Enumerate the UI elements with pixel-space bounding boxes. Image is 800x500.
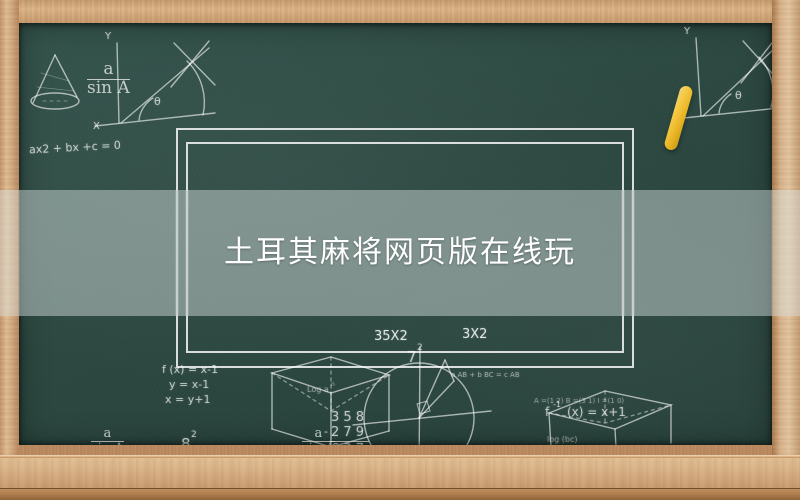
fraction-bar	[302, 441, 335, 442]
cube-hidden-back	[272, 373, 389, 411]
function-line-1: f (x) = x-1	[162, 363, 218, 376]
axis-1-cross-1	[174, 43, 215, 85]
inverse-function-exponent: -1	[553, 400, 561, 409]
subtraction-row-1: 3 5 8	[331, 410, 364, 425]
axis-1-vertical	[117, 43, 119, 123]
angle-1-arc	[139, 98, 153, 120]
angle-2-arc-outer	[759, 57, 772, 107]
label-3x2: 3X2	[462, 327, 487, 342]
inverse-function-base: f	[545, 405, 549, 419]
matrix-equations-text: A =(1 2) B =(3 1) I =(1 0)	[534, 397, 624, 405]
unit-circle	[364, 363, 474, 445]
fraction-bar	[87, 79, 130, 80]
eight-squared-base: 8	[181, 435, 191, 445]
cone-base-ellipse	[31, 93, 79, 109]
axis-1-ray	[121, 48, 209, 123]
axis-1-cross-2	[171, 41, 209, 87]
subtraction-row-2: 2 7 9	[331, 425, 364, 440]
angle-1-arc-outer	[187, 61, 204, 115]
unit-circle-radius-2	[419, 381, 454, 418]
axis-label-y-2: Y	[684, 26, 690, 37]
axis-2-cross-1	[743, 41, 772, 81]
title-overlay-band: 土耳其麻将网页版在线玩	[0, 190, 800, 316]
cone-left-edge	[33, 55, 55, 103]
angle-2-arc	[719, 94, 731, 113]
axis-2-ray	[703, 48, 772, 116]
fraction-denominator: sin A	[91, 442, 124, 445]
function-line-3: x = y+1	[165, 393, 210, 406]
fraction-bar	[91, 441, 124, 442]
fraction-numerator: a	[87, 61, 130, 79]
axis-2-vertical	[696, 38, 701, 116]
axis-2-cross-2	[741, 39, 772, 83]
fraction-numerator: a	[302, 427, 335, 441]
cube2-top	[549, 391, 671, 429]
function-line-2: y = x-1	[169, 378, 209, 391]
fraction-a-over-sina-bottom-left: a sin A	[91, 427, 124, 445]
subtraction-result: 6 3 7	[331, 442, 364, 445]
unit-circle-radius-1	[419, 360, 445, 418]
subtraction-rule	[329, 441, 369, 442]
cone-right-edge	[55, 55, 77, 97]
unit-circle-axis-v	[419, 347, 420, 445]
axis-label-x-2: X	[672, 113, 679, 124]
axis-label-x-1: X	[93, 121, 100, 132]
seven-squared-base: 7	[407, 348, 417, 366]
fraction-a-over-sina-top: a sin A	[87, 61, 130, 98]
angle-label-theta-1: θ	[154, 95, 161, 108]
chalk-tray-lip	[0, 488, 800, 500]
cube2-edge-fl	[549, 413, 551, 445]
log-an-text: Log a	[307, 385, 329, 394]
axis-2-horizontal	[674, 108, 772, 119]
cube2-edge-front	[615, 429, 616, 445]
unit-circle-chord	[445, 360, 454, 381]
quadratic-equation-text: ax2 + bx +c = 0	[29, 139, 121, 157]
seven-squared-exponent: 2	[417, 343, 423, 353]
axis-label-y-1: Y	[105, 31, 111, 42]
cube-bottom-front	[272, 429, 389, 445]
cube-top	[272, 357, 389, 393]
subtraction-operator: -	[324, 425, 328, 438]
log-bc-text: log (bc)	[547, 435, 577, 444]
frame-top-rail	[0, 0, 800, 23]
fraction-numerator: a	[91, 427, 124, 441]
unit-circle-axis-h	[353, 411, 491, 425]
angle-label-theta-2: θ	[735, 89, 742, 102]
right-angle-marker	[417, 401, 430, 414]
label-35x2: 35X2	[374, 329, 408, 344]
vector-relation-text: a AB + b BC = c AB	[451, 371, 520, 379]
fraction-denominator: sin A	[87, 80, 130, 98]
page-title: 土耳其麻将网页版在线玩	[224, 238, 576, 268]
inverse-function-rest: (x) = x+1	[567, 405, 626, 419]
fraction-denominator: sin A	[302, 442, 335, 445]
floating-yellow-chalk-icon	[663, 84, 694, 151]
blackboard-banner: a sin A Y X θ Y X θ ax2 + bx +c = 0 f (x…	[0, 0, 800, 500]
cube2-hidden-back	[549, 405, 671, 423]
eight-squared-exponent: 2	[191, 430, 197, 440]
log-an-exponent: n	[331, 381, 335, 388]
axis-1-horizontal	[95, 113, 215, 126]
fraction-a-over-sina-bottom-mid: a sin A	[302, 427, 335, 445]
